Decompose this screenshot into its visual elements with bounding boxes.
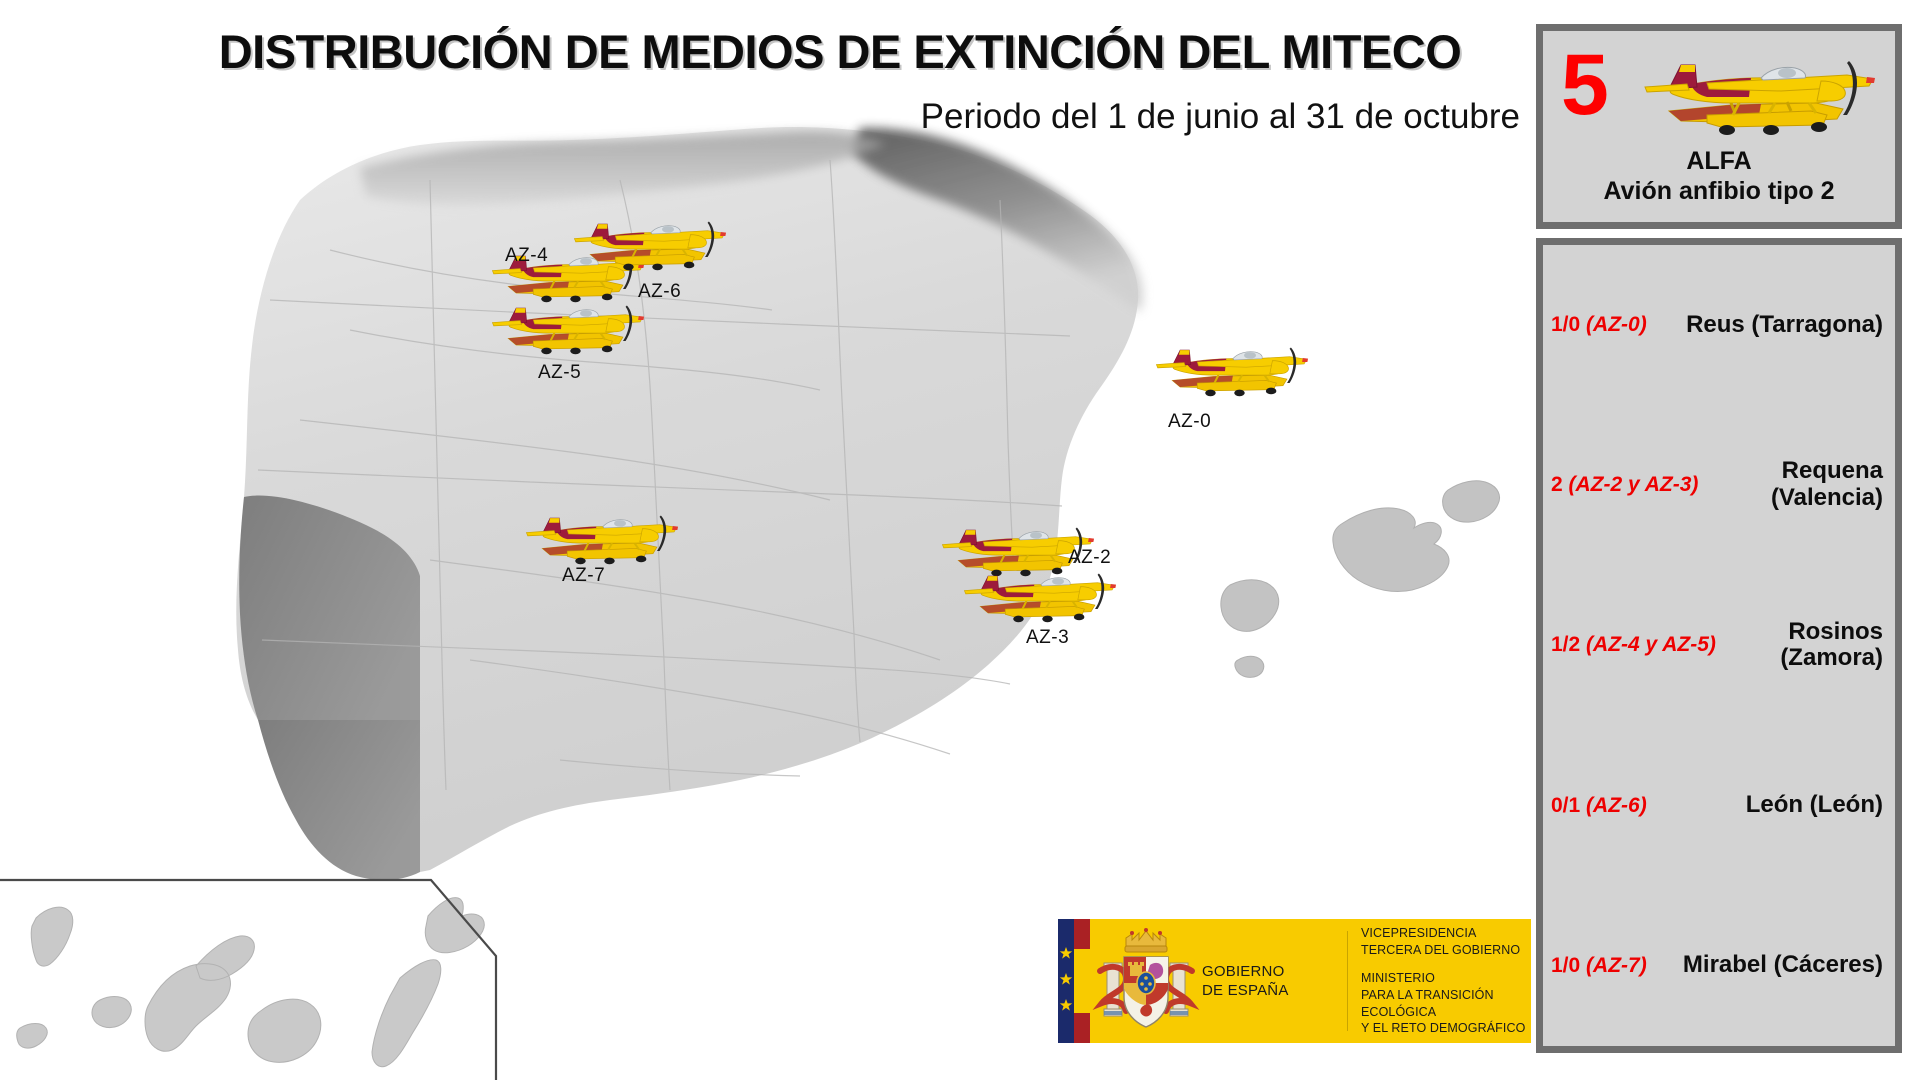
bases-table-panel: 1/0 (AZ-0)Reus (Tarragona)2 (AZ-2 y AZ-3…: [1536, 238, 1902, 1053]
base-unit-codes: (AZ-4 y AZ-5): [1580, 633, 1716, 656]
aircraft-total-count: 5: [1561, 45, 1609, 127]
base-count-value: 1/0: [1551, 954, 1580, 977]
vicepresidencia-line-2: TERCERA DEL GOBIERNO: [1361, 942, 1531, 959]
aircraft-marker-az-5[interactable]: [470, 300, 648, 366]
legend-sidebar: 5: [1536, 24, 1902, 1053]
amphibious-airplane-icon: [1611, 53, 1881, 145]
base-unit-codes: (AZ-6): [1580, 794, 1647, 817]
table-row[interactable]: 0/1 (AZ-6)León (León): [1543, 726, 1895, 886]
base-location-name: Rosinos (Zamora): [1780, 619, 1883, 673]
aircraft-designator-label: ALFA: [1543, 147, 1895, 176]
base-location-name: Mirabel (Cáceres): [1683, 952, 1883, 979]
aircraft-label-az-7: AZ-7: [562, 565, 605, 587]
ministry-text-block: VICEPRESIDENCIA TERCERA DEL GOBIERNO MIN…: [1348, 919, 1531, 1043]
base-count-value: 2: [1551, 473, 1563, 496]
legend-header-panel: 5: [1536, 24, 1902, 229]
base-unit-codes: (AZ-7): [1580, 954, 1647, 977]
gobierno-line-1: GOBIERNO: [1202, 962, 1289, 981]
base-location-name: León (León): [1746, 792, 1883, 819]
vicepresidencia-line-1: VICEPRESIDENCIA: [1361, 925, 1531, 942]
aircraft-marker-az-3[interactable]: [942, 568, 1120, 634]
ministerio-line-1: MINISTERIO: [1361, 970, 1531, 987]
base-aircraft-count: 2 (AZ-2 y AZ-3): [1551, 473, 1731, 497]
table-row[interactable]: 1/0 (AZ-7)Mirabel (Cáceres): [1543, 886, 1895, 1046]
ministerio-line-2: PARA LA TRANSICIÓN ECOLÓGICA: [1361, 987, 1531, 1020]
base-location-name: Requena (Valencia): [1771, 458, 1883, 512]
page-title: DISTRIBUCIÓN DE MEDIOS DE EXTINCIÓN DEL …: [160, 24, 1520, 79]
aircraft-label-az-5: AZ-5: [538, 362, 581, 384]
table-row[interactable]: 1/2 (AZ-4 y AZ-5)Rosinos (Zamora): [1543, 565, 1895, 725]
balearic-islands: [1221, 481, 1500, 678]
page-subtitle: Periodo del 1 de junio al 31 de octubre: [300, 97, 1520, 137]
base-unit-codes: (AZ-0): [1580, 313, 1647, 336]
map-canvas: AZ-4 AZ-6 AZ-5: [0, 0, 1540, 1080]
aircraft-label-az-4: AZ-4: [505, 245, 548, 267]
aircraft-label-az-0: AZ-0: [1168, 411, 1211, 433]
gobierno-line-2: DE ESPAÑA: [1202, 981, 1289, 1000]
iberian-peninsula-map: [0, 0, 1540, 1080]
aircraft-label-az-3: AZ-3: [1026, 627, 1069, 649]
base-aircraft-count: 0/1 (AZ-6): [1551, 794, 1731, 818]
gobierno-de-espana-logo: GOBIERNO DE ESPAÑA VICEPRESIDENCIA TERCE…: [1058, 919, 1531, 1043]
aircraft-marker-az-0[interactable]: [1134, 342, 1312, 408]
aircraft-type-label: Avión anfibio tipo 2: [1543, 177, 1895, 206]
table-row[interactable]: 2 (AZ-2 y AZ-3)Requena (Valencia): [1543, 405, 1895, 565]
canary-islands: [17, 898, 485, 1067]
base-aircraft-count: 1/2 (AZ-4 y AZ-5): [1551, 633, 1731, 657]
portugal-landmass: [239, 496, 420, 881]
base-location-name: Reus (Tarragona): [1686, 312, 1883, 339]
eu-flag-bar-icon: [1058, 919, 1090, 1043]
gobierno-de-espana-text: GOBIERNO DE ESPAÑA: [1202, 919, 1347, 1043]
base-count-value: 1/2: [1551, 633, 1580, 656]
base-count-value: 0/1: [1551, 794, 1580, 817]
base-unit-codes: (AZ-2 y AZ-3): [1563, 473, 1699, 496]
aircraft-label-az-2: AZ-2: [1068, 547, 1111, 569]
spain-coat-of-arms-icon: [1090, 919, 1202, 1043]
ministerio-line-3: Y EL RETO DEMOGRÁFICO: [1361, 1020, 1531, 1037]
base-count-value: 1/0: [1551, 313, 1580, 336]
aircraft-marker-az-6[interactable]: [552, 216, 730, 282]
table-row[interactable]: 1/0 (AZ-0)Reus (Tarragona): [1543, 245, 1895, 405]
